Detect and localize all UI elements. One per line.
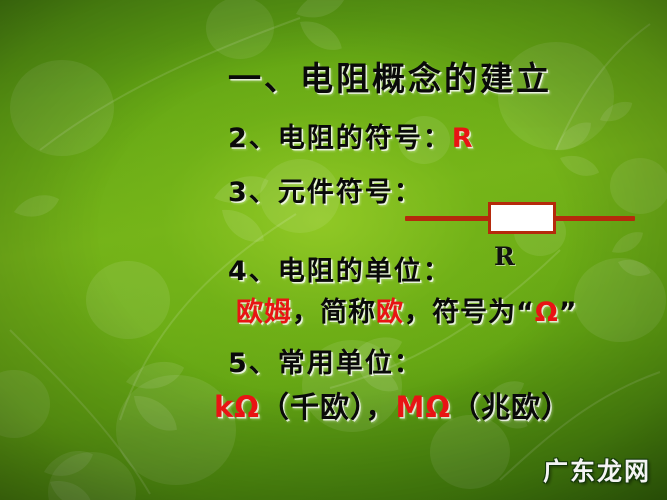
ohm-symbol: Ω [535, 297, 559, 328]
quote-open: “ [516, 297, 535, 328]
item2-value-R: R [452, 123, 475, 154]
resistor-symbol-diagram [403, 196, 637, 242]
item4-label: 电阻的单位： [278, 256, 452, 287]
resistor-body [488, 202, 556, 234]
item5-number: 5、 [228, 348, 278, 379]
item3-number: 3、 [228, 177, 278, 208]
list-item-4: 4、电阻的单位： [228, 249, 452, 288]
resistor-label-R: R [494, 242, 515, 271]
list-item-2: 2、电阻的符号：R [228, 116, 475, 155]
mega-ohm-symbol: MΩ [395, 390, 451, 424]
watermark: 广东龙网 [543, 452, 651, 488]
item2-label: 电阻的符号： [278, 123, 452, 154]
item5-label: 常用单位： [278, 348, 423, 379]
list-item-5: 5、常用单位： [228, 341, 423, 380]
slide-title: 一、电阻概念的建立 [228, 52, 552, 100]
item2-number: 2、 [228, 123, 278, 154]
kilo-ohm-symbol: kΩ [214, 390, 260, 424]
mega-ohm-name: （兆欧） [451, 390, 571, 424]
list-item-3: 3、元件符号： [228, 170, 423, 209]
slide-title-text: 一、电阻概念的建立 [228, 59, 552, 98]
item3-label: 元件符号： [278, 177, 423, 208]
item4-after-short: ，符号为 [404, 297, 516, 328]
presentation-slide: 一、电阻概念的建立 2、电阻的符号：R 3、元件符号： R 4、电阻的单位： 欧… [0, 0, 667, 500]
kilo-ohm-name: （千欧） [260, 390, 366, 424]
list-item-4-detail: 欧姆，简称欧，符号为“Ω” [236, 290, 577, 329]
slide-content: 一、电阻概念的建立 2、电阻的符号：R 3、元件符号： R 4、电阻的单位： 欧… [0, 0, 667, 500]
list-item-5-detail: kΩ（千欧），MΩ（兆欧） [214, 384, 571, 426]
quote-close: ” [559, 297, 578, 328]
unit-short-ohm: 欧 [376, 297, 404, 328]
unit-name-ohm: 欧姆 [236, 297, 292, 328]
item4-after-unit: ，简称 [292, 297, 376, 328]
unit-separator: ， [365, 390, 395, 424]
item4-number: 4、 [228, 256, 278, 287]
